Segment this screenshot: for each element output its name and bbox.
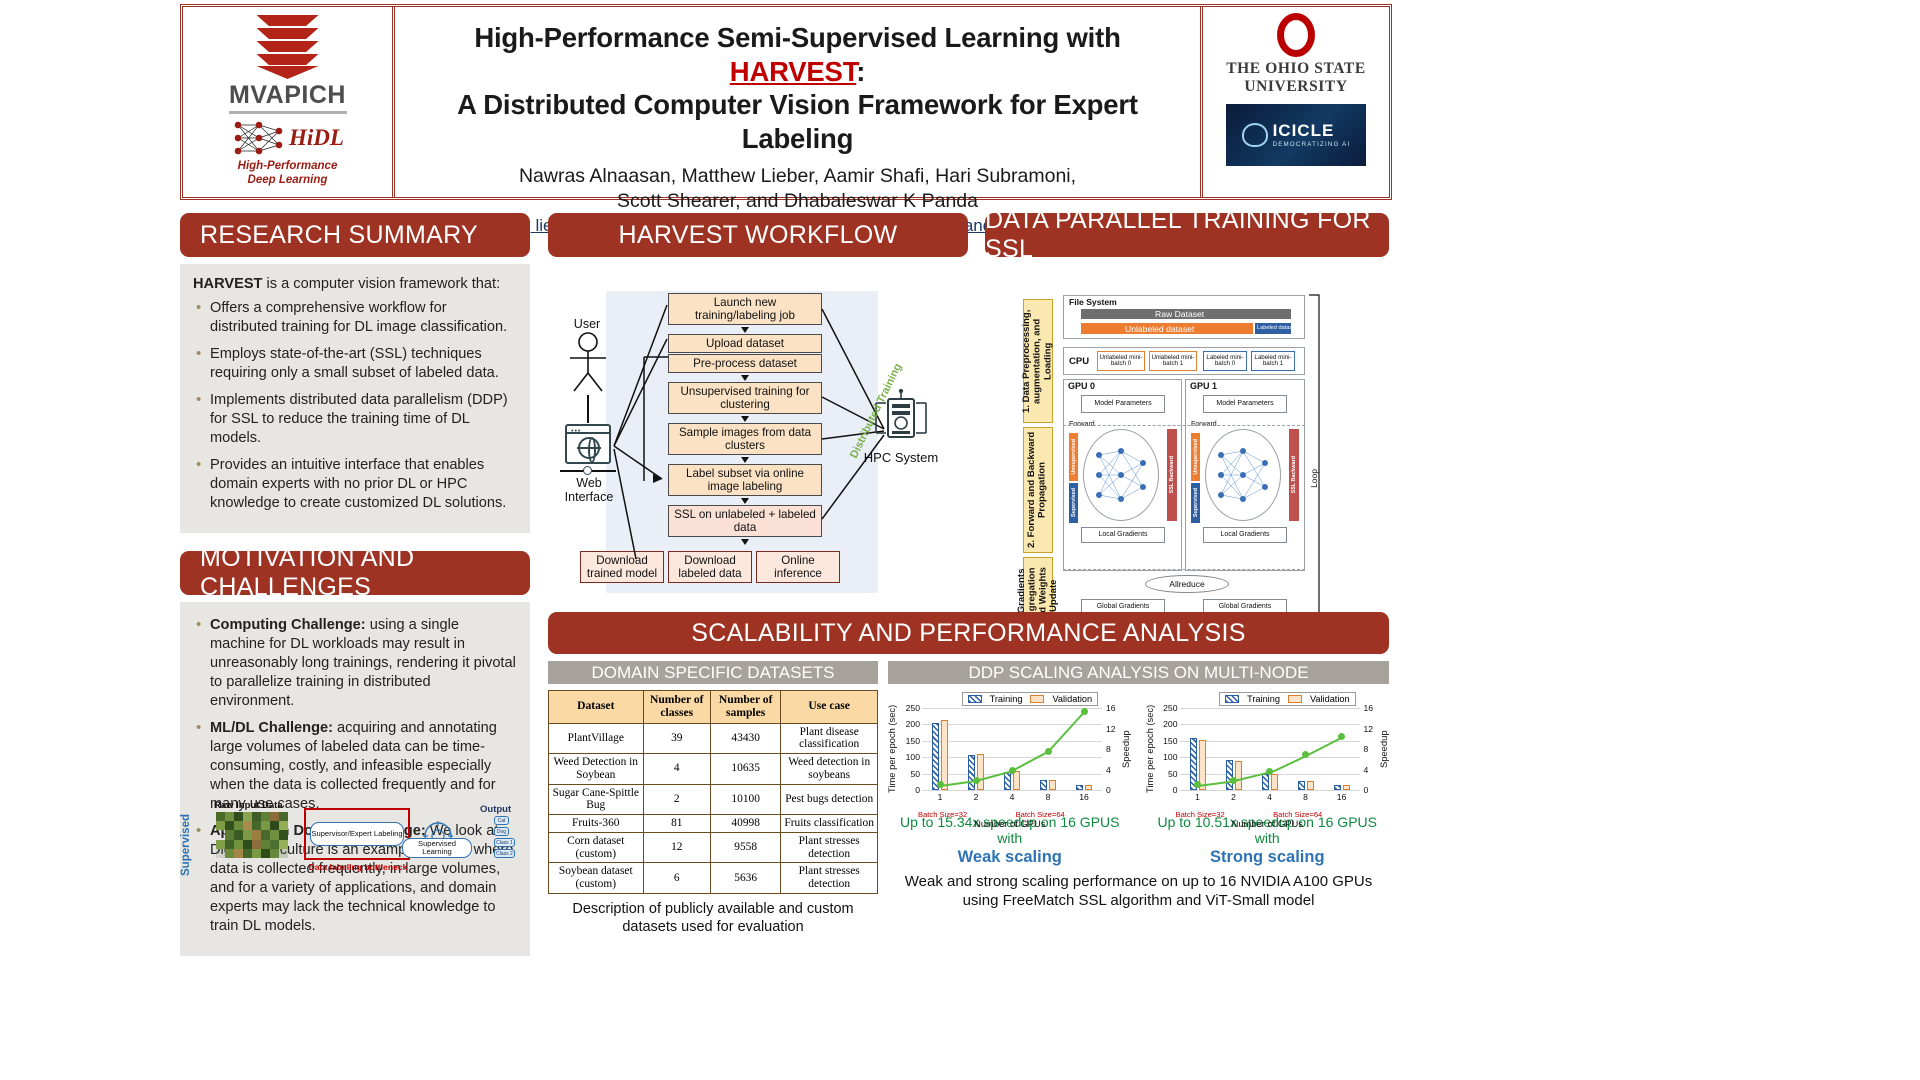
batch-size-label-left: Batch Size=32 xyxy=(918,810,967,819)
cell-usecase: Plant stresses detection xyxy=(781,832,878,863)
user-web-connector xyxy=(587,395,589,423)
col-usecase: Use case xyxy=(781,691,878,724)
arrow-down-icon xyxy=(741,457,749,463)
allreduce-oval: Allreduce xyxy=(1145,575,1229,593)
bar-training xyxy=(1040,780,1047,790)
cell-samples: 10100 xyxy=(711,784,781,815)
web-label-2: Interface xyxy=(565,490,614,504)
workflow-step-sample: Sample images from data clusters xyxy=(668,423,822,455)
cell-samples: 40998 xyxy=(711,815,781,833)
osu-line-1: THE OHIO STATE xyxy=(1226,60,1366,78)
hpc-system-label: HPC System xyxy=(848,451,954,466)
ddp-charts-panel: DDP SCALING ANALYSIS ON MULTI-NODE 05010… xyxy=(888,661,1389,936)
col-dataset: Dataset xyxy=(549,691,644,724)
raw-dataset-label: Raw Dataset xyxy=(1155,309,1204,319)
unsupervised-tag-label: Unsupervised xyxy=(1071,439,1077,475)
page-title: High-Performance Semi-Supervised Learnin… xyxy=(405,21,1190,155)
x-tick-label: 16 xyxy=(1074,792,1094,802)
bar-validation xyxy=(1343,785,1350,790)
harvest-workflow-diagram: User ••• Web Interface Launch new tra xyxy=(548,269,966,635)
speedup-line-segment xyxy=(1305,736,1342,756)
mvapich-wordmark: MVAPICH xyxy=(229,83,346,108)
table-row: Soybean dataset (custom) 6 5636 Plant st… xyxy=(549,863,878,894)
legend-label-validation: Validation xyxy=(1052,694,1092,704)
cell-usecase: Plant disease classification xyxy=(781,723,878,754)
y2-axis-label: Speedup xyxy=(1120,708,1131,790)
section-workflow-header: HARVEST WORKFLOW xyxy=(548,213,968,257)
bar-training xyxy=(1076,785,1083,790)
y-tick-label: 150 xyxy=(1156,736,1178,746)
supervised-tag-label: Supervised xyxy=(1193,488,1199,517)
icicle-wordmark: ICICLE xyxy=(1273,122,1351,139)
cell-samples: 43430 xyxy=(711,723,781,754)
speedup-line-segment xyxy=(1012,751,1049,772)
chart-canvas: 0501001502002500481216Time per epoch (se… xyxy=(1146,692,1390,810)
class-node: Class 2 xyxy=(494,849,515,858)
grid-line xyxy=(922,708,1102,709)
cell-dataset: Fruits-360 xyxy=(549,815,644,833)
supervised-learning-diagram: Supervised Raw Input Data Supervisor/Exp… xyxy=(180,800,530,880)
x-axis-label: Number of GPUs xyxy=(1146,818,1390,829)
harvest-bold: HARVEST xyxy=(193,276,262,292)
loop-label: Loop xyxy=(1309,469,1319,488)
y2-tick-label: 8 xyxy=(1364,744,1369,754)
stage-divider-2 xyxy=(1063,569,1305,570)
osu-icicle-logo: THE OHIO STATE UNIVERSITY ICICLE DEMOCRA… xyxy=(1203,7,1389,197)
cell-usecase: Pest bugs detection xyxy=(781,784,878,815)
logo-divider xyxy=(229,111,347,114)
y-tick-label: 250 xyxy=(898,703,920,713)
cell-dataset: Soybean dataset (custom) xyxy=(549,863,644,894)
bar-validation xyxy=(1235,761,1242,790)
local-gradients-chip: Local Gradients xyxy=(1203,527,1287,543)
grid-line xyxy=(1180,757,1360,758)
model-params-chip: Model Parameters xyxy=(1081,395,1165,413)
class-node: Cat xyxy=(494,816,509,825)
grid-line xyxy=(922,741,1102,742)
bar-validation xyxy=(1307,781,1314,790)
strong-scaling-label: Strong scaling xyxy=(1146,848,1390,867)
chart-legend: TrainingValidation xyxy=(962,692,1099,706)
ssl-backward-tag: SSL Backward xyxy=(1167,429,1177,521)
expert-labeling-node: Supervisor/Expert Labeling xyxy=(310,822,404,846)
datasets-panel: DOMAIN SPECIFIC DATASETS Dataset Number … xyxy=(548,661,878,936)
poster-header: MVAPICH HiDL xyxy=(180,4,1392,200)
minibatch-chip: Labeled mini-batch 1 xyxy=(1251,351,1295,371)
osu-line-2: UNIVERSITY xyxy=(1244,78,1347,96)
y-tick-label: 250 xyxy=(1156,703,1178,713)
workflow-step-ssl: SSL on unlabeled + labeled data xyxy=(668,505,822,537)
arrow-down-icon xyxy=(741,416,749,422)
class-node: Class 1 xyxy=(494,838,515,847)
workflow-step-label: Label subset via online image labeling xyxy=(668,464,822,496)
bar-validation xyxy=(977,754,984,790)
poster-root: MVAPICH HiDL xyxy=(0,0,1920,1080)
speedup-point xyxy=(1081,708,1088,715)
icicle-tagline: DEMOCRATIZING AI xyxy=(1273,141,1351,148)
list-item: Provides an intuitive interface that ena… xyxy=(193,456,517,513)
speedup-point xyxy=(1338,733,1345,740)
mvapich-mark-icon xyxy=(257,15,319,79)
supervised-tag-label: Supervised xyxy=(1071,488,1077,517)
workflow-step-launch: Launch new training/labeling job xyxy=(668,293,822,325)
authors-line-2: Scott Shearer, and Dhabaleswar K Panda xyxy=(617,190,978,212)
y-tick-label: 200 xyxy=(1156,719,1178,729)
y-tick-label: 50 xyxy=(898,769,920,779)
user-label: User xyxy=(558,317,616,331)
list-item: Offers a comprehensive workflow for dist… xyxy=(193,299,517,337)
grid-line xyxy=(922,724,1102,725)
hidl-tagline: High-PerformanceDeep Learning xyxy=(238,159,338,188)
x-tick-label: 1 xyxy=(930,792,950,802)
x-tick-label: 4 xyxy=(1002,792,1022,802)
list-item: Computing Challenge: using a single mach… xyxy=(193,616,517,711)
y2-tick-label: 12 xyxy=(1364,724,1374,734)
ddp-subheader: DDP SCALING ANALYSIS ON MULTI-NODE xyxy=(888,661,1389,684)
local-gradients-chip: Local Gradients xyxy=(1081,527,1165,543)
right-column: DATA PARALLEL TRAINING FOR SSL 1. Data P… xyxy=(985,213,1389,635)
y-tick-label: 100 xyxy=(898,752,920,762)
raw-input-label: Raw Input Data xyxy=(214,800,283,811)
section-ddp-header: DATA PARALLEL TRAINING FOR SSL xyxy=(985,213,1389,257)
cell-usecase: Weed detection in soybeans xyxy=(781,754,878,785)
grid-line xyxy=(922,790,1102,791)
web-interface-label: Web Interface xyxy=(556,476,622,505)
section-scalability-header: SCALABILITY AND PERFORMANCE ANALYSIS xyxy=(548,612,1389,654)
harvest-lead-rest: is a computer vision framework that: xyxy=(262,276,500,292)
nn-graph-icon xyxy=(1205,429,1281,521)
class-node: Dog xyxy=(494,827,509,836)
x-tick-label: 4 xyxy=(1260,792,1280,802)
osu-o-icon xyxy=(1277,13,1315,57)
workflow-output-inference: Online inference xyxy=(756,551,840,583)
batch-size-label-left: Batch Size=32 xyxy=(1176,810,1225,819)
grid-line xyxy=(1180,790,1360,791)
web-label-1: Web xyxy=(576,476,601,490)
ssl-backward-label: SSL Backward xyxy=(1291,456,1297,493)
y2-tick-label: 4 xyxy=(1106,765,1111,775)
legend-label-training: Training xyxy=(1247,694,1280,704)
user-stick-figure-icon xyxy=(562,331,614,393)
section-motivation-header: MOTIVATION AND CHALLENGES xyxy=(180,551,530,595)
title-line1-b: : xyxy=(856,56,865,87)
labeled-dataset-label: Labeled dataset xyxy=(1257,325,1297,331)
bar-validation xyxy=(1085,785,1092,790)
cell-classes: 12 xyxy=(643,832,710,863)
gpu0-label: GPU 0 xyxy=(1068,381,1095,391)
cell-dataset: PlantVillage xyxy=(549,723,644,754)
table-row: Corn dataset (custom) 12 9558 Plant stre… xyxy=(549,832,878,863)
legend-swatch-validation xyxy=(1030,695,1044,703)
ddp-stage-2: 2. Forward and Backward Propagation xyxy=(1023,427,1053,553)
bar-validation xyxy=(941,720,948,790)
charts-caption: Weak and strong scaling performance on u… xyxy=(888,873,1389,911)
authors-line-1: Nawras Alnaasan, Matthew Lieber, Aamir S… xyxy=(519,165,1076,187)
arrow-down-icon xyxy=(741,375,749,381)
bar-validation xyxy=(1013,771,1020,790)
supervised-learning-node: Supervised Learning xyxy=(402,838,472,858)
y2-axis-label: Speedup xyxy=(1378,708,1389,790)
legend-label-training: Training xyxy=(990,694,1023,704)
hidl-wordmark: HiDL xyxy=(289,125,344,151)
cell-samples: 5636 xyxy=(711,863,781,894)
y2-tick-label: 0 xyxy=(1106,785,1111,795)
legend-swatch-validation xyxy=(1288,695,1302,703)
x-tick-label: 1 xyxy=(1188,792,1208,802)
web-interface-icon: ••• xyxy=(565,424,611,464)
title-line2: A Distributed Computer Vision Framework … xyxy=(457,89,1138,154)
file-system-label: File System xyxy=(1069,297,1117,307)
title-line1-a: High-Performance Semi-Supervised Learnin… xyxy=(474,22,1120,53)
bar-training xyxy=(1298,781,1305,790)
y2-tick-label: 16 xyxy=(1364,703,1374,713)
y-tick-label: 100 xyxy=(1156,752,1178,762)
y2-tick-label: 8 xyxy=(1106,744,1111,754)
title-highlight: HARVEST xyxy=(730,56,856,87)
ddp-stage-2-label: 2. Forward and Backward Propagation xyxy=(1027,428,1048,552)
section-research-summary-header: RESEARCH SUMMARY xyxy=(180,213,530,257)
col-classes: Number of classes xyxy=(643,691,710,724)
brain-icon xyxy=(1242,123,1268,147)
web-base-node xyxy=(583,466,592,475)
y-tick-label: 50 xyxy=(1156,769,1178,779)
research-summary-lead: HARVEST is a computer vision framework t… xyxy=(193,275,517,294)
batch-size-label-right: Batch Size=64 xyxy=(1016,810,1065,819)
bar-training xyxy=(932,723,939,790)
x-tick-label: 8 xyxy=(1296,792,1316,802)
research-summary-body: HARVEST is a computer vision framework t… xyxy=(180,264,530,533)
y-tick-label: 150 xyxy=(898,736,920,746)
cell-dataset: Corn dataset (custom) xyxy=(549,832,644,863)
x-tick-label: 2 xyxy=(966,792,986,802)
table-header-row: Dataset Number of classes Number of samp… xyxy=(549,691,878,724)
workflow-output-model: Download trained model xyxy=(580,551,664,583)
legend-label-validation: Validation xyxy=(1310,694,1350,704)
arrow-down-icon xyxy=(741,498,749,504)
workflow-step-unsupervised: Unsupervised training for clustering xyxy=(668,382,822,414)
x-tick-label: 16 xyxy=(1332,792,1352,802)
datasets-caption: Description of publicly available and cu… xyxy=(548,900,878,936)
workflow-step-preprocess: Pre-process dataset xyxy=(668,354,822,373)
minibatch-chip: Unlabeled mini-batch 0 xyxy=(1097,351,1145,371)
grid-line xyxy=(1180,724,1360,725)
y2-tick-label: 0 xyxy=(1364,785,1369,795)
cell-samples: 10635 xyxy=(711,754,781,785)
y2-tick-label: 4 xyxy=(1364,765,1369,775)
chart-canvas: 0501001502002500481216Time per epoch (se… xyxy=(888,692,1132,810)
minibatch-chip: Labeled mini-batch 0 xyxy=(1203,351,1247,371)
legend-swatch-training xyxy=(968,695,982,703)
mvapich-hidl-logo: MVAPICH HiDL xyxy=(183,7,395,197)
cell-dataset: Weed Detection in Soybean xyxy=(549,754,644,785)
list-item: Implements distributed data parallelism … xyxy=(193,391,517,448)
chart-strong-scaling: 0501001502002500481216Time per epoch (se… xyxy=(1146,692,1390,867)
table-row: Fruits-360 81 40998 Fruits classificatio… xyxy=(549,815,878,833)
table-row: Weed Detection in Soybean 4 10635 Weed d… xyxy=(549,754,878,785)
model-params-chip: Model Parameters xyxy=(1203,395,1287,413)
datasets-subheader: DOMAIN SPECIFIC DATASETS xyxy=(548,661,878,684)
cell-usecase: Fruits classification xyxy=(781,815,878,833)
cell-classes: 4 xyxy=(643,754,710,785)
cell-samples: 9558 xyxy=(711,832,781,863)
table-row: Sugar Cane-Spittle Bug 2 10100 Pest bugs… xyxy=(549,784,878,815)
table-row: PlantVillage 39 43430 Plant disease clas… xyxy=(549,723,878,754)
cell-usecase: Plant stresses detection xyxy=(781,863,878,894)
bar-training xyxy=(1004,772,1011,790)
bar-training xyxy=(1226,760,1233,790)
y-axis-label: Time per epoch (sec) xyxy=(1144,704,1155,794)
icicle-logo: ICICLE DEMOCRATIZING AI xyxy=(1226,104,1366,166)
weak-scaling-label: Weak scaling xyxy=(888,848,1132,867)
cpu-label: CPU xyxy=(1069,356,1089,367)
title-block: High-Performance Semi-Supervised Learnin… xyxy=(395,7,1203,197)
y2-tick-label: 16 xyxy=(1106,703,1116,713)
y-tick-label: 0 xyxy=(1156,785,1178,795)
bottleneck-label: Data labeling bottleneck xyxy=(298,862,418,872)
research-summary-bullets: Offers a comprehensive workflow for dist… xyxy=(193,299,517,513)
stage-divider-1 xyxy=(1063,425,1305,426)
scalability-section: SCALABILITY AND PERFORMANCE ANALYSIS DOM… xyxy=(548,612,1389,936)
cell-classes: 6 xyxy=(643,863,710,894)
arrow-down-icon xyxy=(741,539,749,545)
unsupervised-tag: Unsupervised xyxy=(1191,433,1200,481)
ddp-stage-1: 1. Data Preprocessing, augmentation, and… xyxy=(1023,299,1053,423)
bar-validation xyxy=(1271,774,1278,790)
chart-weak-scaling: 0501001502002500481216Time per epoch (se… xyxy=(888,692,1132,867)
y-tick-label: 0 xyxy=(898,785,920,795)
bar-training xyxy=(968,755,975,790)
datasets-table: Dataset Number of classes Number of samp… xyxy=(548,690,878,894)
motivation-body: Computing Challenge: using a single mach… xyxy=(180,602,530,956)
neural-network-icon xyxy=(231,119,287,157)
ssl-backward-label: SSL Backward xyxy=(1169,456,1175,493)
workflow-step-upload: Upload dataset xyxy=(668,334,822,353)
chart-legend: TrainingValidation xyxy=(1219,692,1356,706)
speedup-line-segment xyxy=(1047,712,1084,753)
raw-image-mosaic xyxy=(216,812,288,858)
gpu1-label: GPU 1 xyxy=(1190,381,1217,391)
grid-line xyxy=(1180,708,1360,709)
supervised-tag: Supervised xyxy=(1069,483,1078,523)
workflow-output-data: Download labeled data xyxy=(668,551,752,583)
ddp-stage-1-label: 1. Data Preprocessing, augmentation, and… xyxy=(1022,300,1054,422)
bullet-label: Computing Challenge: xyxy=(210,617,366,633)
middle-column: HARVEST WORKFLOW User ••• Web I xyxy=(548,213,968,635)
unsupervised-tag-label: Unsupervised xyxy=(1193,439,1199,475)
x-tick-label: 2 xyxy=(1224,792,1244,802)
unsupervised-tag: Unsupervised xyxy=(1069,433,1078,481)
nn-graph-icon xyxy=(1083,429,1159,521)
list-item: Employs state-of-the-art (SSL) technique… xyxy=(193,345,517,383)
y2-tick-label: 12 xyxy=(1106,724,1116,734)
x-tick-label: 8 xyxy=(1038,792,1058,802)
bar-validation xyxy=(1049,780,1056,790)
arrow-down-icon xyxy=(741,327,749,333)
cell-dataset: Sugar Cane-Spittle Bug xyxy=(549,784,644,815)
minibatch-chip: Unlabeled mini-batch 1 xyxy=(1149,351,1197,371)
cell-classes: 2 xyxy=(643,784,710,815)
charts-row: 0501001502002500481216Time per epoch (se… xyxy=(888,692,1389,867)
motivation-bullets: Computing Challenge: using a single mach… xyxy=(193,616,517,936)
legend-swatch-training xyxy=(1225,695,1239,703)
col-samples: Number of samples xyxy=(711,691,781,724)
grid-line xyxy=(922,757,1102,758)
output-label: Output xyxy=(480,804,511,815)
bar-training xyxy=(1262,774,1269,790)
y-tick-label: 200 xyxy=(898,719,920,729)
ssl-backward-tag: SSL Backward xyxy=(1289,429,1299,521)
supervised-tag: Supervised xyxy=(1191,483,1200,523)
bullet-label: ML/DL Challenge: xyxy=(210,720,333,736)
unlabeled-dataset-label: Unlabeled dataset xyxy=(1125,324,1194,334)
cell-classes: 81 xyxy=(643,815,710,833)
supervised-label: Supervised xyxy=(180,814,192,876)
batch-size-label-right: Batch Size=64 xyxy=(1273,810,1322,819)
bar-training xyxy=(1334,785,1341,790)
y-axis-label: Time per epoch (sec) xyxy=(886,704,897,794)
x-axis-label: Number of GPUs xyxy=(888,818,1132,829)
ddp-diagram: 1. Data Preprocessing, augmentation, and… xyxy=(985,269,1387,635)
cell-classes: 39 xyxy=(643,723,710,754)
